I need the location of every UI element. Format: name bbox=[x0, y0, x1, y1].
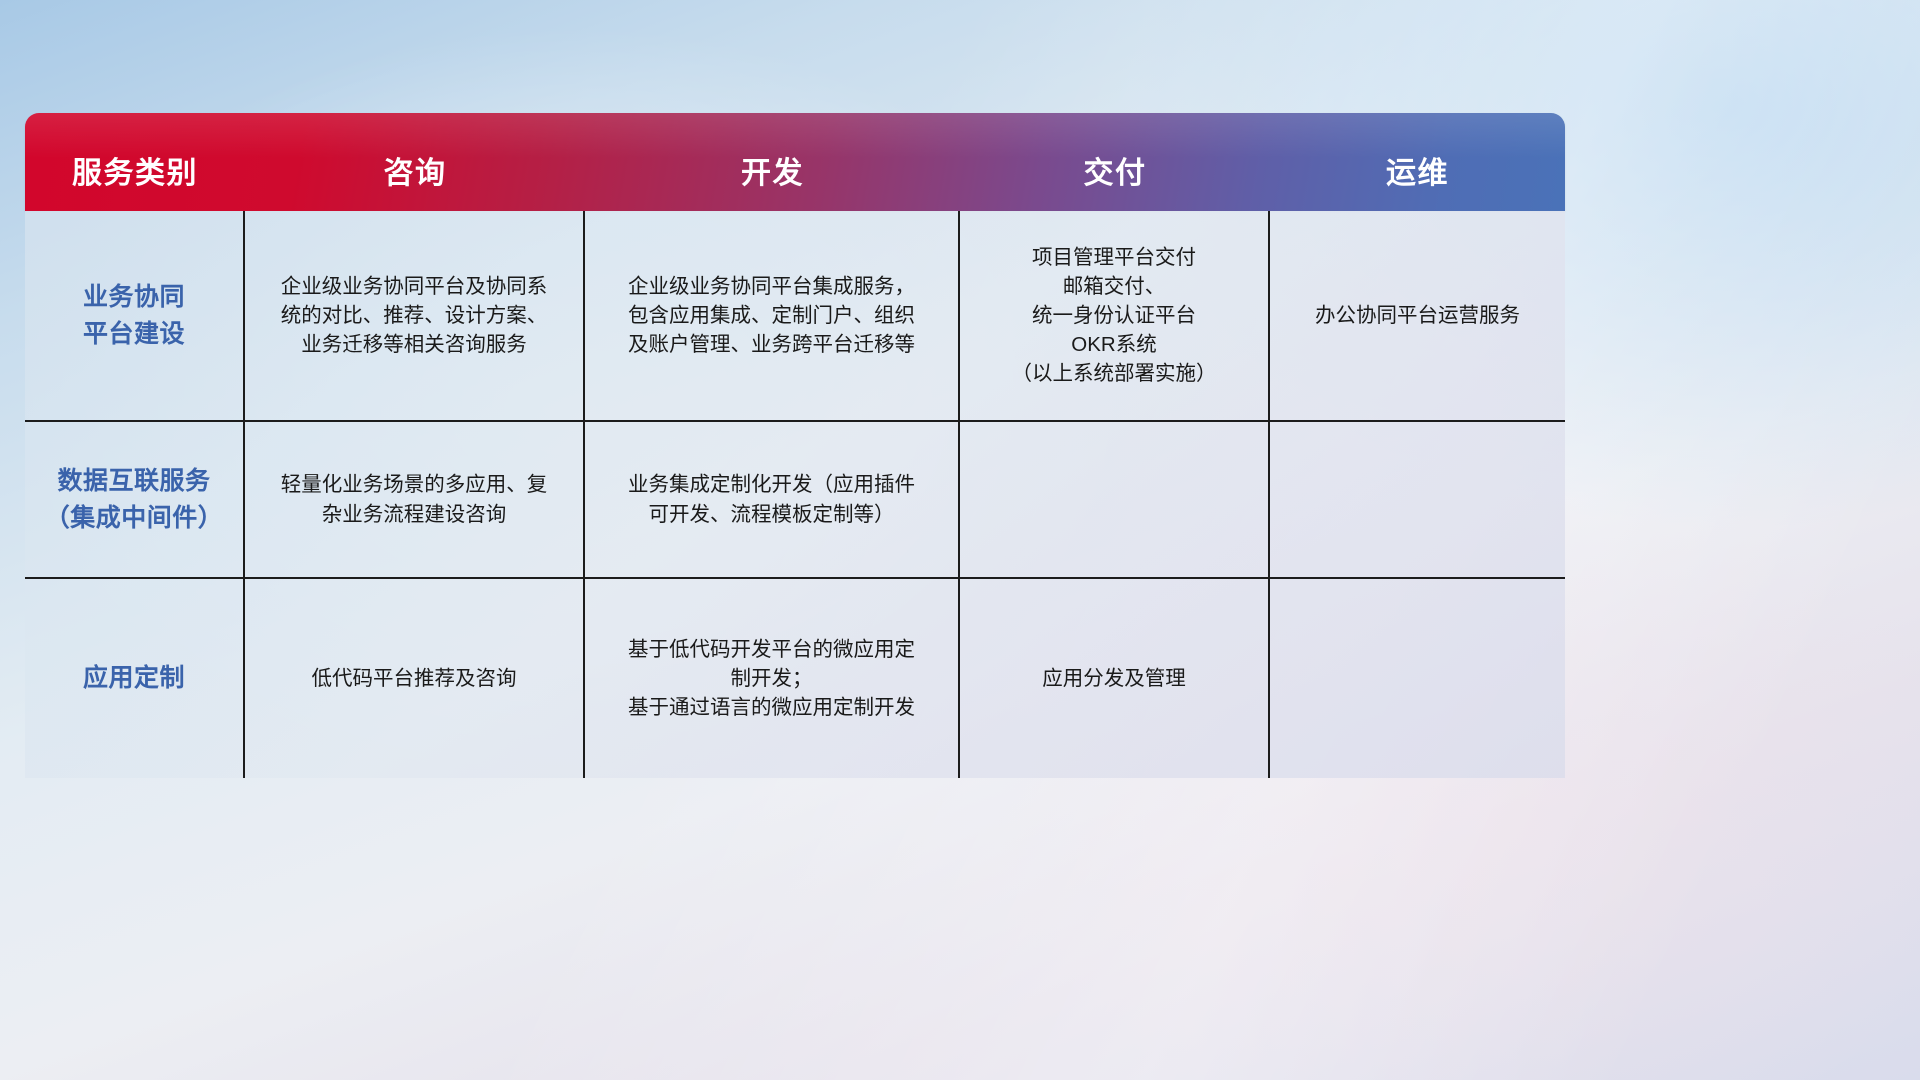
table-row: 数据互联服务 （集成中间件） 轻量化业务场景的多应用、复 杂业务流程建设咨询 业… bbox=[25, 422, 1565, 579]
cell-operations bbox=[1270, 579, 1565, 778]
table-header-row: 服务类别 咨询 开发 交付 运维 bbox=[25, 113, 1565, 211]
slide-canvas: 服务类别 咨询 开发 交付 运维 业务协同 平台建设 企业级业务协同平台及协同系… bbox=[0, 0, 1920, 1080]
table-body: 业务协同 平台建设 企业级业务协同平台及协同系 统的对比、推荐、设计方案、 业务… bbox=[25, 211, 1565, 778]
cell-development: 基于低代码开发平台的微应用定 制开发； 基于通过语言的微应用定制开发 bbox=[585, 579, 960, 778]
cell-development: 企业级业务协同平台集成服务， 包含应用集成、定制门户、组织 及账户管理、业务跨平… bbox=[585, 211, 960, 420]
cell-delivery bbox=[960, 422, 1270, 577]
cell-delivery: 项目管理平台交付 邮箱交付、 统一身份认证平台 OKR系统 （以上系统部署实施） bbox=[960, 211, 1270, 420]
cell-delivery: 应用分发及管理 bbox=[960, 579, 1270, 778]
cell-operations: 办公协同平台运营服务 bbox=[1270, 211, 1565, 420]
cell-consulting: 轻量化业务场景的多应用、复 杂业务流程建设咨询 bbox=[245, 422, 585, 577]
column-header-service-category: 服务类别 bbox=[25, 159, 245, 211]
column-header-consulting: 咨询 bbox=[245, 159, 585, 211]
column-header-delivery: 交付 bbox=[960, 159, 1270, 211]
row-category-label: 业务协同 平台建设 bbox=[25, 211, 245, 420]
cell-consulting: 低代码平台推荐及咨询 bbox=[245, 579, 585, 778]
cell-development: 业务集成定制化开发（应用插件 可开发、流程模板定制等） bbox=[585, 422, 960, 577]
row-category-label: 应用定制 bbox=[25, 579, 245, 778]
cell-consulting: 企业级业务协同平台及协同系 统的对比、推荐、设计方案、 业务迁移等相关咨询服务 bbox=[245, 211, 585, 420]
column-header-operations: 运维 bbox=[1270, 159, 1565, 211]
row-category-label: 数据互联服务 （集成中间件） bbox=[25, 422, 245, 577]
service-matrix-table: 服务类别 咨询 开发 交付 运维 业务协同 平台建设 企业级业务协同平台及协同系… bbox=[25, 113, 1565, 778]
cell-operations bbox=[1270, 422, 1565, 577]
column-header-development: 开发 bbox=[585, 159, 960, 211]
table-row: 应用定制 低代码平台推荐及咨询 基于低代码开发平台的微应用定 制开发； 基于通过… bbox=[25, 579, 1565, 778]
table-row: 业务协同 平台建设 企业级业务协同平台及协同系 统的对比、推荐、设计方案、 业务… bbox=[25, 211, 1565, 422]
